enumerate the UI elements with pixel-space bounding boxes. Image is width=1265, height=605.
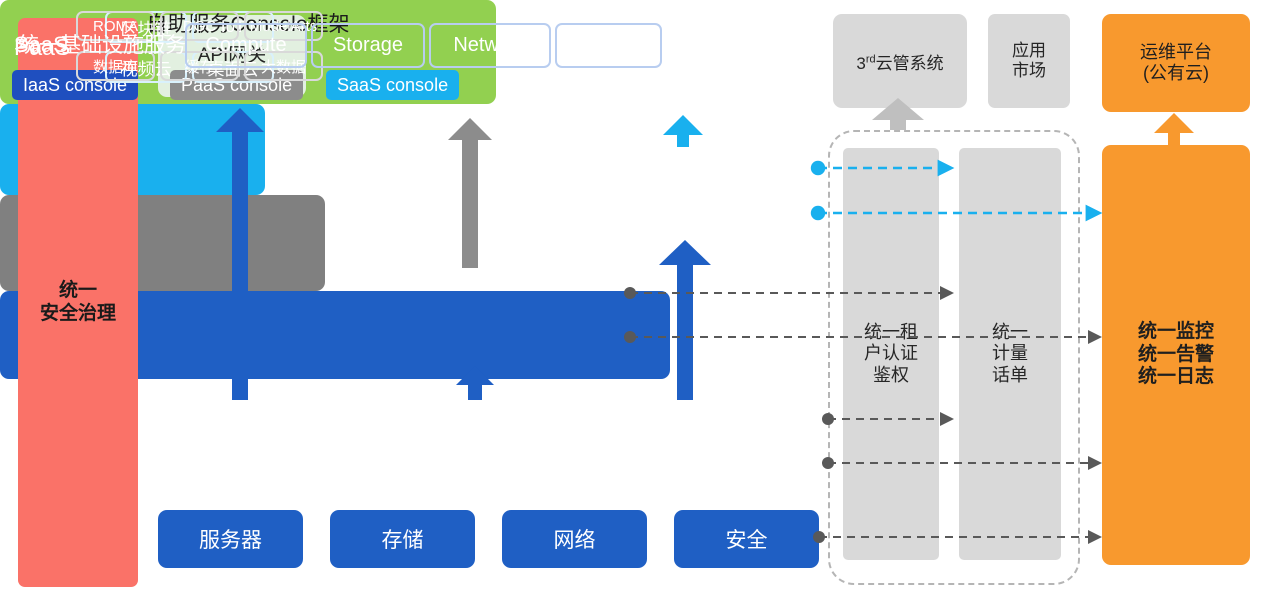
resource-chip-network[interactable]: 网络 bbox=[502, 510, 647, 568]
resource-chip-storage[interactable]: 存储 bbox=[330, 510, 475, 568]
unified-metering-billing-label: 统一 计量 话单 bbox=[992, 322, 1028, 386]
app-market-box[interactable]: 应用 市场 bbox=[988, 14, 1070, 108]
app-market-label: 应用 市场 bbox=[1012, 41, 1046, 81]
resource-chip-security[interactable]: 安全 bbox=[674, 510, 819, 568]
infra-chip-network[interactable]: Network bbox=[429, 23, 551, 68]
arrow-ops-side-to-ops-top bbox=[1154, 113, 1194, 145]
ops-platform-public-cloud-box[interactable]: 运维平台 (公有云) bbox=[1102, 14, 1250, 112]
ops-platform-label: 运维平台 (公有云) bbox=[1140, 42, 1212, 84]
security-governance-pillar[interactable]: 统一 安全治理 bbox=[18, 18, 138, 587]
infra-chip-cce[interactable]: CCE bbox=[555, 23, 662, 68]
unified-tenant-auth-column[interactable]: 统一租 户认证 鉴权 bbox=[843, 148, 939, 560]
ops-platform-side-label: 统一监控 统一告警 统一日志 bbox=[1138, 321, 1214, 388]
architecture-diagram: 统一 安全治理 API网关 自助服务Console框架 IaaS console… bbox=[0, 0, 1265, 605]
arrow-paas-to-console bbox=[448, 118, 492, 268]
ops-platform-side-pillar[interactable]: 统一监控 统一告警 统一日志 bbox=[1102, 145, 1250, 565]
third-party-cloud-label: 3rd云管系统 bbox=[856, 49, 943, 74]
infra-chip-compute[interactable]: Compute bbox=[185, 23, 307, 68]
saas-console-chip[interactable]: SaaS console bbox=[326, 70, 459, 100]
unified-tenant-auth-label: 统一租 户认证 鉴权 bbox=[864, 322, 918, 386]
third-party-cloud-management-box[interactable]: 3rd云管系统 bbox=[833, 14, 967, 108]
unified-metering-billing-column[interactable]: 统一 计量 话单 bbox=[959, 148, 1061, 560]
resource-chip-server[interactable]: 服务器 bbox=[158, 510, 303, 568]
arrow-saas-to-console bbox=[663, 115, 703, 147]
infra-chip-storage[interactable]: Storage bbox=[311, 23, 425, 68]
infrastructure-label: 统一基础设施服务 bbox=[18, 29, 186, 59]
security-governance-label: 统一 安全治理 bbox=[40, 280, 116, 325]
